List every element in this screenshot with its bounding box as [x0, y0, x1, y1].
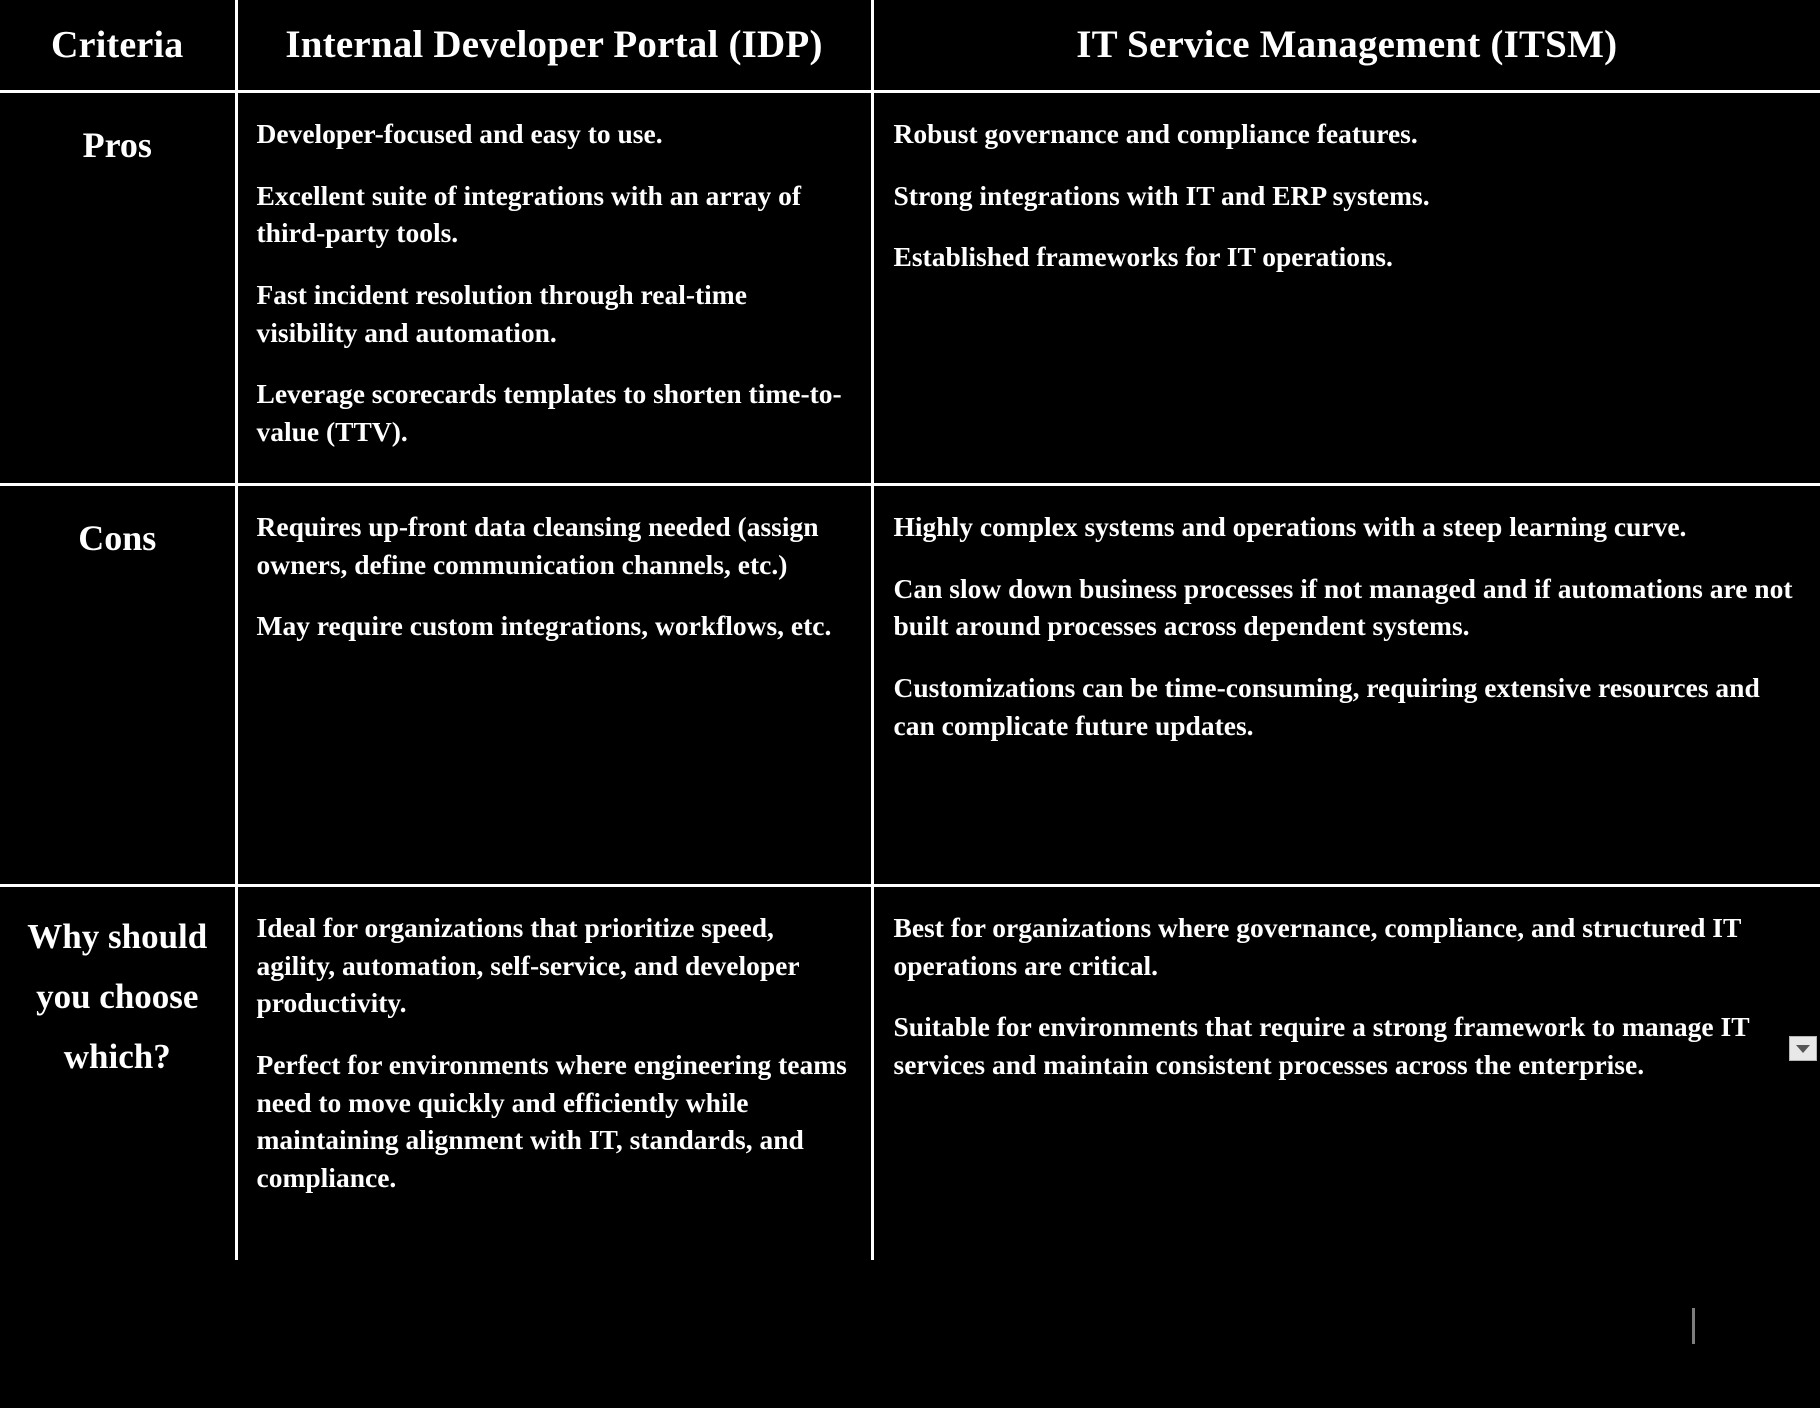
bullet-text: Established frameworks for IT operations…	[894, 238, 1803, 276]
header-cell-idp: Internal Developer Portal (IDP)	[236, 0, 872, 92]
bullet-text: Developer-focused and easy to use.	[257, 115, 851, 153]
bullet-text: Can slow down business processes if not …	[894, 570, 1803, 645]
scroll-down-button[interactable]	[1789, 1036, 1817, 1061]
bullet-text: Leverage scorecards templates to shorten…	[257, 375, 851, 450]
bullet-text: Suitable for environments that require a…	[894, 1008, 1803, 1083]
row-label-cell-pros: Pros	[0, 92, 236, 485]
header-cell-itsm: IT Service Management (ITSM)	[872, 0, 1820, 92]
cell-cons-itsm: Highly complex systems and operations wi…	[872, 485, 1820, 886]
bullet-text: Fast incident resolution through real-ti…	[257, 276, 851, 351]
table-header-row: Criteria Internal Developer Portal (IDP)…	[0, 0, 1820, 92]
row-label-why: Why should you choose which?	[0, 887, 235, 1088]
bullet-text: Highly complex systems and operations wi…	[894, 508, 1803, 546]
comparison-table: Criteria Internal Developer Portal (IDP)…	[0, 0, 1820, 1260]
cell-cons-idp: Requires up-front data cleansing needed …	[236, 485, 872, 886]
bullet-text: Robust governance and compliance feature…	[894, 115, 1803, 153]
cell-why-idp: Ideal for organizations that prioritize …	[236, 886, 872, 1261]
table-row: Cons Requires up-front data cleansing ne…	[0, 485, 1820, 886]
table-row: Why should you choose which? Ideal for o…	[0, 886, 1820, 1261]
cell-pros-itsm: Robust governance and compliance feature…	[872, 92, 1820, 485]
header-label-itsm: IT Service Management (ITSM)	[874, 0, 1820, 90]
cell-content-why-idp: Ideal for organizations that prioritize …	[238, 887, 871, 1215]
row-label-cons: Cons	[0, 486, 235, 570]
header-label-criteria: Criteria	[0, 0, 235, 90]
bullet-text: Excellent suite of integrations with an …	[257, 177, 851, 252]
bullet-text: Requires up-front data cleansing needed …	[257, 508, 851, 583]
cell-content-pros-itsm: Robust governance and compliance feature…	[874, 93, 1820, 294]
bullet-text: Best for organizations where governance,…	[894, 909, 1803, 984]
cell-content-why-itsm: Best for organizations where governance,…	[874, 887, 1820, 1102]
bullet-text: May require custom integrations, workflo…	[257, 607, 851, 645]
header-cell-criteria: Criteria	[0, 0, 236, 92]
row-label-pros: Pros	[0, 93, 235, 177]
row-label-cell-cons: Cons	[0, 485, 236, 886]
bullet-text: Customizations can be time-consuming, re…	[894, 669, 1803, 744]
row-label-cell-why: Why should you choose which?	[0, 886, 236, 1261]
bullet-text: Strong integrations with IT and ERP syst…	[894, 177, 1803, 215]
cell-why-itsm: Best for organizations where governance,…	[872, 886, 1820, 1261]
cell-pros-idp: Developer-focused and easy to use. Excel…	[236, 92, 872, 485]
chevron-down-icon	[1796, 1045, 1810, 1053]
bullet-text: Perfect for environments where engineeri…	[257, 1046, 851, 1197]
cell-content-cons-idp: Requires up-front data cleansing needed …	[238, 486, 871, 663]
text-cursor	[1692, 1308, 1695, 1344]
header-label-idp: Internal Developer Portal (IDP)	[238, 0, 871, 90]
bullet-text: Ideal for organizations that prioritize …	[257, 909, 851, 1022]
cell-content-pros-idp: Developer-focused and easy to use. Excel…	[238, 93, 871, 469]
table-row: Pros Developer-focused and easy to use. …	[0, 92, 1820, 485]
cell-content-cons-itsm: Highly complex systems and operations wi…	[874, 486, 1820, 762]
comparison-table-container: Criteria Internal Developer Portal (IDP)…	[0, 0, 1820, 1408]
